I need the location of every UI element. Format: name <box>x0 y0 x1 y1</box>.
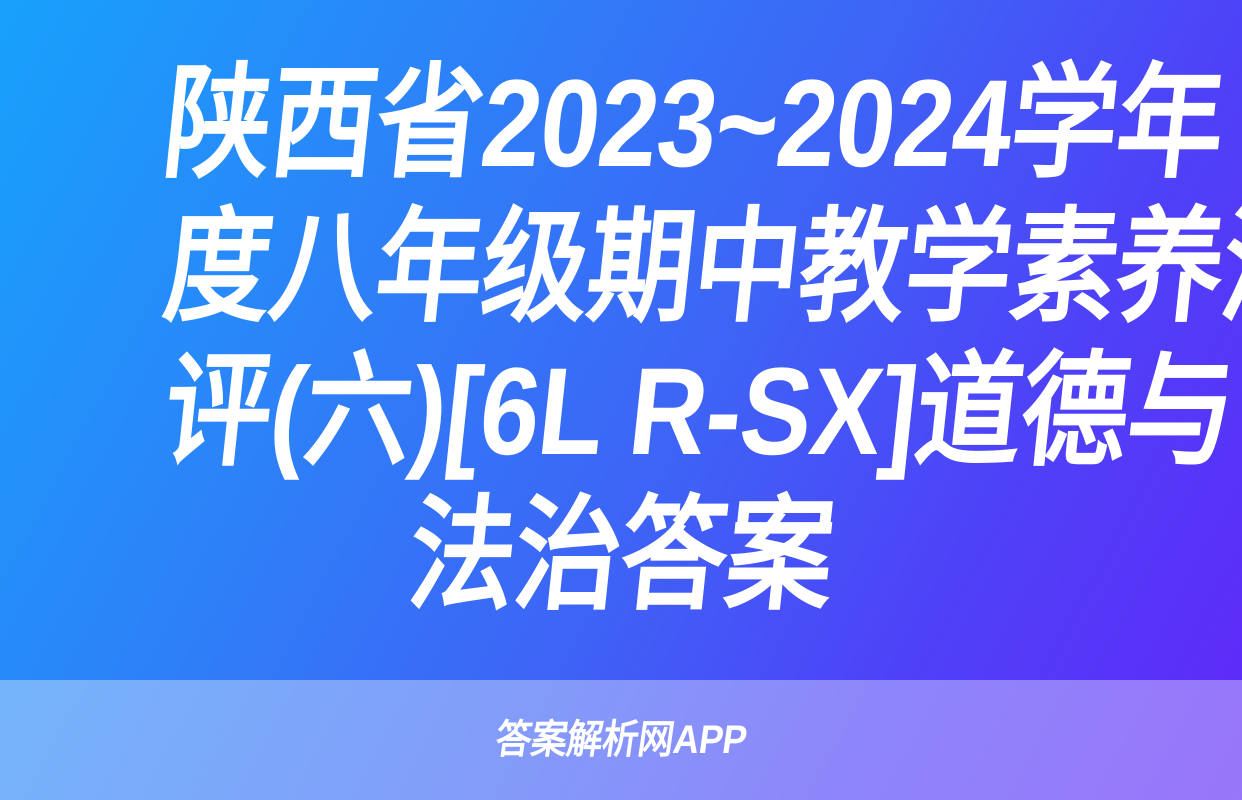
page-title: 陕西省2023~2024学年 度八年级期中教学素养测 评(六)[6L R-SX]… <box>0 0 1242 680</box>
title-line-1: 陕西省2023~2024学年 <box>158 52 1085 196</box>
title-line-4: 法治答案 <box>158 484 1085 628</box>
footer-bar: 答案解析网APP <box>0 680 1242 800</box>
app-watermark-label: 答案解析网APP <box>493 718 750 762</box>
title-line-3: 评(六)[6L R-SX]道德与 <box>158 340 1085 484</box>
title-line-2: 度八年级期中教学素养测 <box>158 196 1085 340</box>
title-card: 陕西省2023~2024学年 度八年级期中教学素养测 评(六)[6L R-SX]… <box>0 0 1242 800</box>
